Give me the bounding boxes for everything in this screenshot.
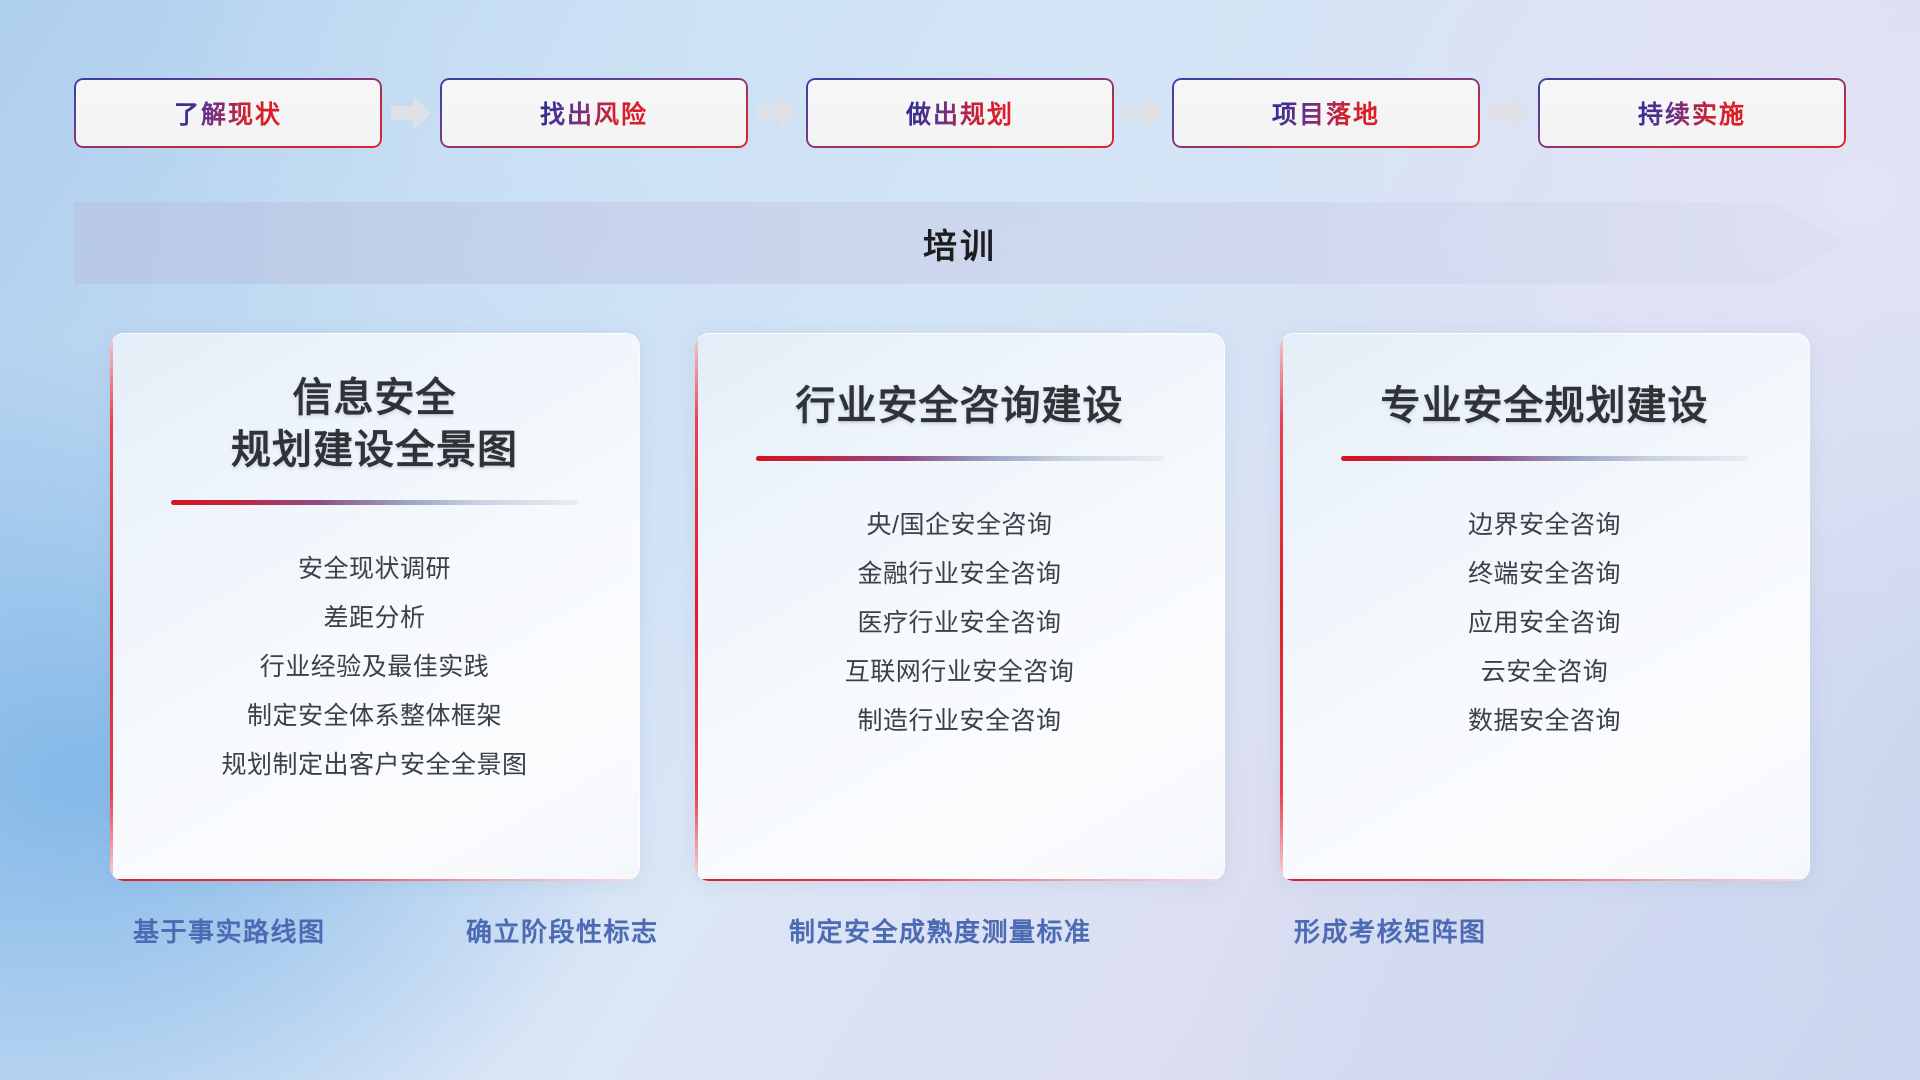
list-item: 医疗行业安全咨询 bbox=[695, 599, 1224, 648]
card-title: 行业安全咨询建设 bbox=[695, 380, 1224, 432]
step-chip-4[interactable]: 项目落地 bbox=[1172, 78, 1480, 148]
step-chip-5[interactable]: 持续实施 bbox=[1538, 78, 1846, 148]
list-item: 终端安全咨询 bbox=[1280, 550, 1809, 599]
card-title-line1: 行业安全咨询建设 bbox=[721, 380, 1198, 432]
step-chip-1[interactable]: 了解现状 bbox=[74, 78, 382, 148]
card-row: 信息安全 规划建设全景图 安全现状调研 差距分析 行业经验及最佳实践 制定安全体… bbox=[110, 333, 1810, 881]
card-divider bbox=[1341, 456, 1749, 461]
list-item: 行业经验及最佳实践 bbox=[110, 643, 639, 692]
list-item: 制定安全体系整体框架 bbox=[110, 692, 639, 741]
card-item-list: 边界安全咨询 终端安全咨询 应用安全咨询 云安全咨询 数据安全咨询 bbox=[1280, 501, 1809, 746]
list-item: 金融行业安全咨询 bbox=[695, 550, 1224, 599]
list-item: 边界安全咨询 bbox=[1280, 501, 1809, 550]
list-item: 制造行业安全咨询 bbox=[695, 697, 1224, 746]
list-item: 安全现状调研 bbox=[110, 545, 639, 594]
arrow-right-icon bbox=[1489, 96, 1529, 130]
step-label: 持续实施 bbox=[1638, 95, 1746, 131]
card-title-line2: 规划建设全景图 bbox=[136, 424, 613, 476]
list-item: 规划制定出客户安全全景图 bbox=[110, 741, 639, 790]
list-item: 云安全咨询 bbox=[1280, 648, 1809, 697]
card-professional-security-planning[interactable]: 专业安全规划建设 边界安全咨询 终端安全咨询 应用安全咨询 云安全咨询 数据安全… bbox=[1280, 333, 1810, 881]
step-label: 做出规划 bbox=[906, 95, 1014, 131]
caption-row: 基于事实路线图 确立阶段性标志 制定安全成熟度测量标准 形成考核矩阵图 bbox=[0, 912, 1920, 962]
step-chip-3[interactable]: 做出规划 bbox=[806, 78, 1114, 148]
card-divider bbox=[756, 456, 1164, 461]
arrow-right-icon bbox=[1123, 96, 1163, 130]
list-item: 央/国企安全咨询 bbox=[695, 501, 1224, 550]
list-item: 互联网行业安全咨询 bbox=[695, 648, 1224, 697]
caption-assessment-matrix: 形成考核矩阵图 bbox=[1294, 912, 1487, 949]
card-title: 专业安全规划建设 bbox=[1280, 380, 1809, 432]
caption-maturity-standard: 制定安全成熟度测量标准 bbox=[789, 912, 1092, 949]
card-title: 信息安全 规划建设全景图 bbox=[110, 372, 639, 476]
caption-milestone: 确立阶段性标志 bbox=[466, 912, 659, 949]
card-title-line1: 信息安全 bbox=[136, 372, 613, 424]
training-banner: 培训 bbox=[74, 202, 1846, 284]
list-item: 数据安全咨询 bbox=[1280, 697, 1809, 746]
list-item: 应用安全咨询 bbox=[1280, 599, 1809, 648]
card-divider bbox=[171, 500, 579, 505]
step-chip-2[interactable]: 找出风险 bbox=[440, 78, 748, 148]
card-item-list: 央/国企安全咨询 金融行业安全咨询 医疗行业安全咨询 互联网行业安全咨询 制造行… bbox=[695, 501, 1224, 746]
list-item: 差距分析 bbox=[110, 594, 639, 643]
process-step-row: 了解现状 找出风险 做出规划 项目落地 持续实施 bbox=[74, 78, 1846, 148]
card-industry-security-consulting[interactable]: 行业安全咨询建设 央/国企安全咨询 金融行业安全咨询 医疗行业安全咨询 互联网行… bbox=[695, 333, 1225, 881]
step-label: 项目落地 bbox=[1272, 95, 1380, 131]
banner-title: 培训 bbox=[74, 202, 1846, 284]
card-information-security-blueprint[interactable]: 信息安全 规划建设全景图 安全现状调研 差距分析 行业经验及最佳实践 制定安全体… bbox=[110, 333, 640, 881]
step-label: 找出风险 bbox=[540, 95, 648, 131]
step-label: 了解现状 bbox=[174, 95, 282, 131]
card-title-line1: 专业安全规划建设 bbox=[1306, 380, 1783, 432]
card-item-list: 安全现状调研 差距分析 行业经验及最佳实践 制定安全体系整体框架 规划制定出客户… bbox=[110, 545, 639, 790]
arrow-right-icon bbox=[757, 96, 797, 130]
caption-roadmap: 基于事实路线图 bbox=[133, 912, 326, 949]
arrow-right-icon bbox=[391, 96, 431, 130]
